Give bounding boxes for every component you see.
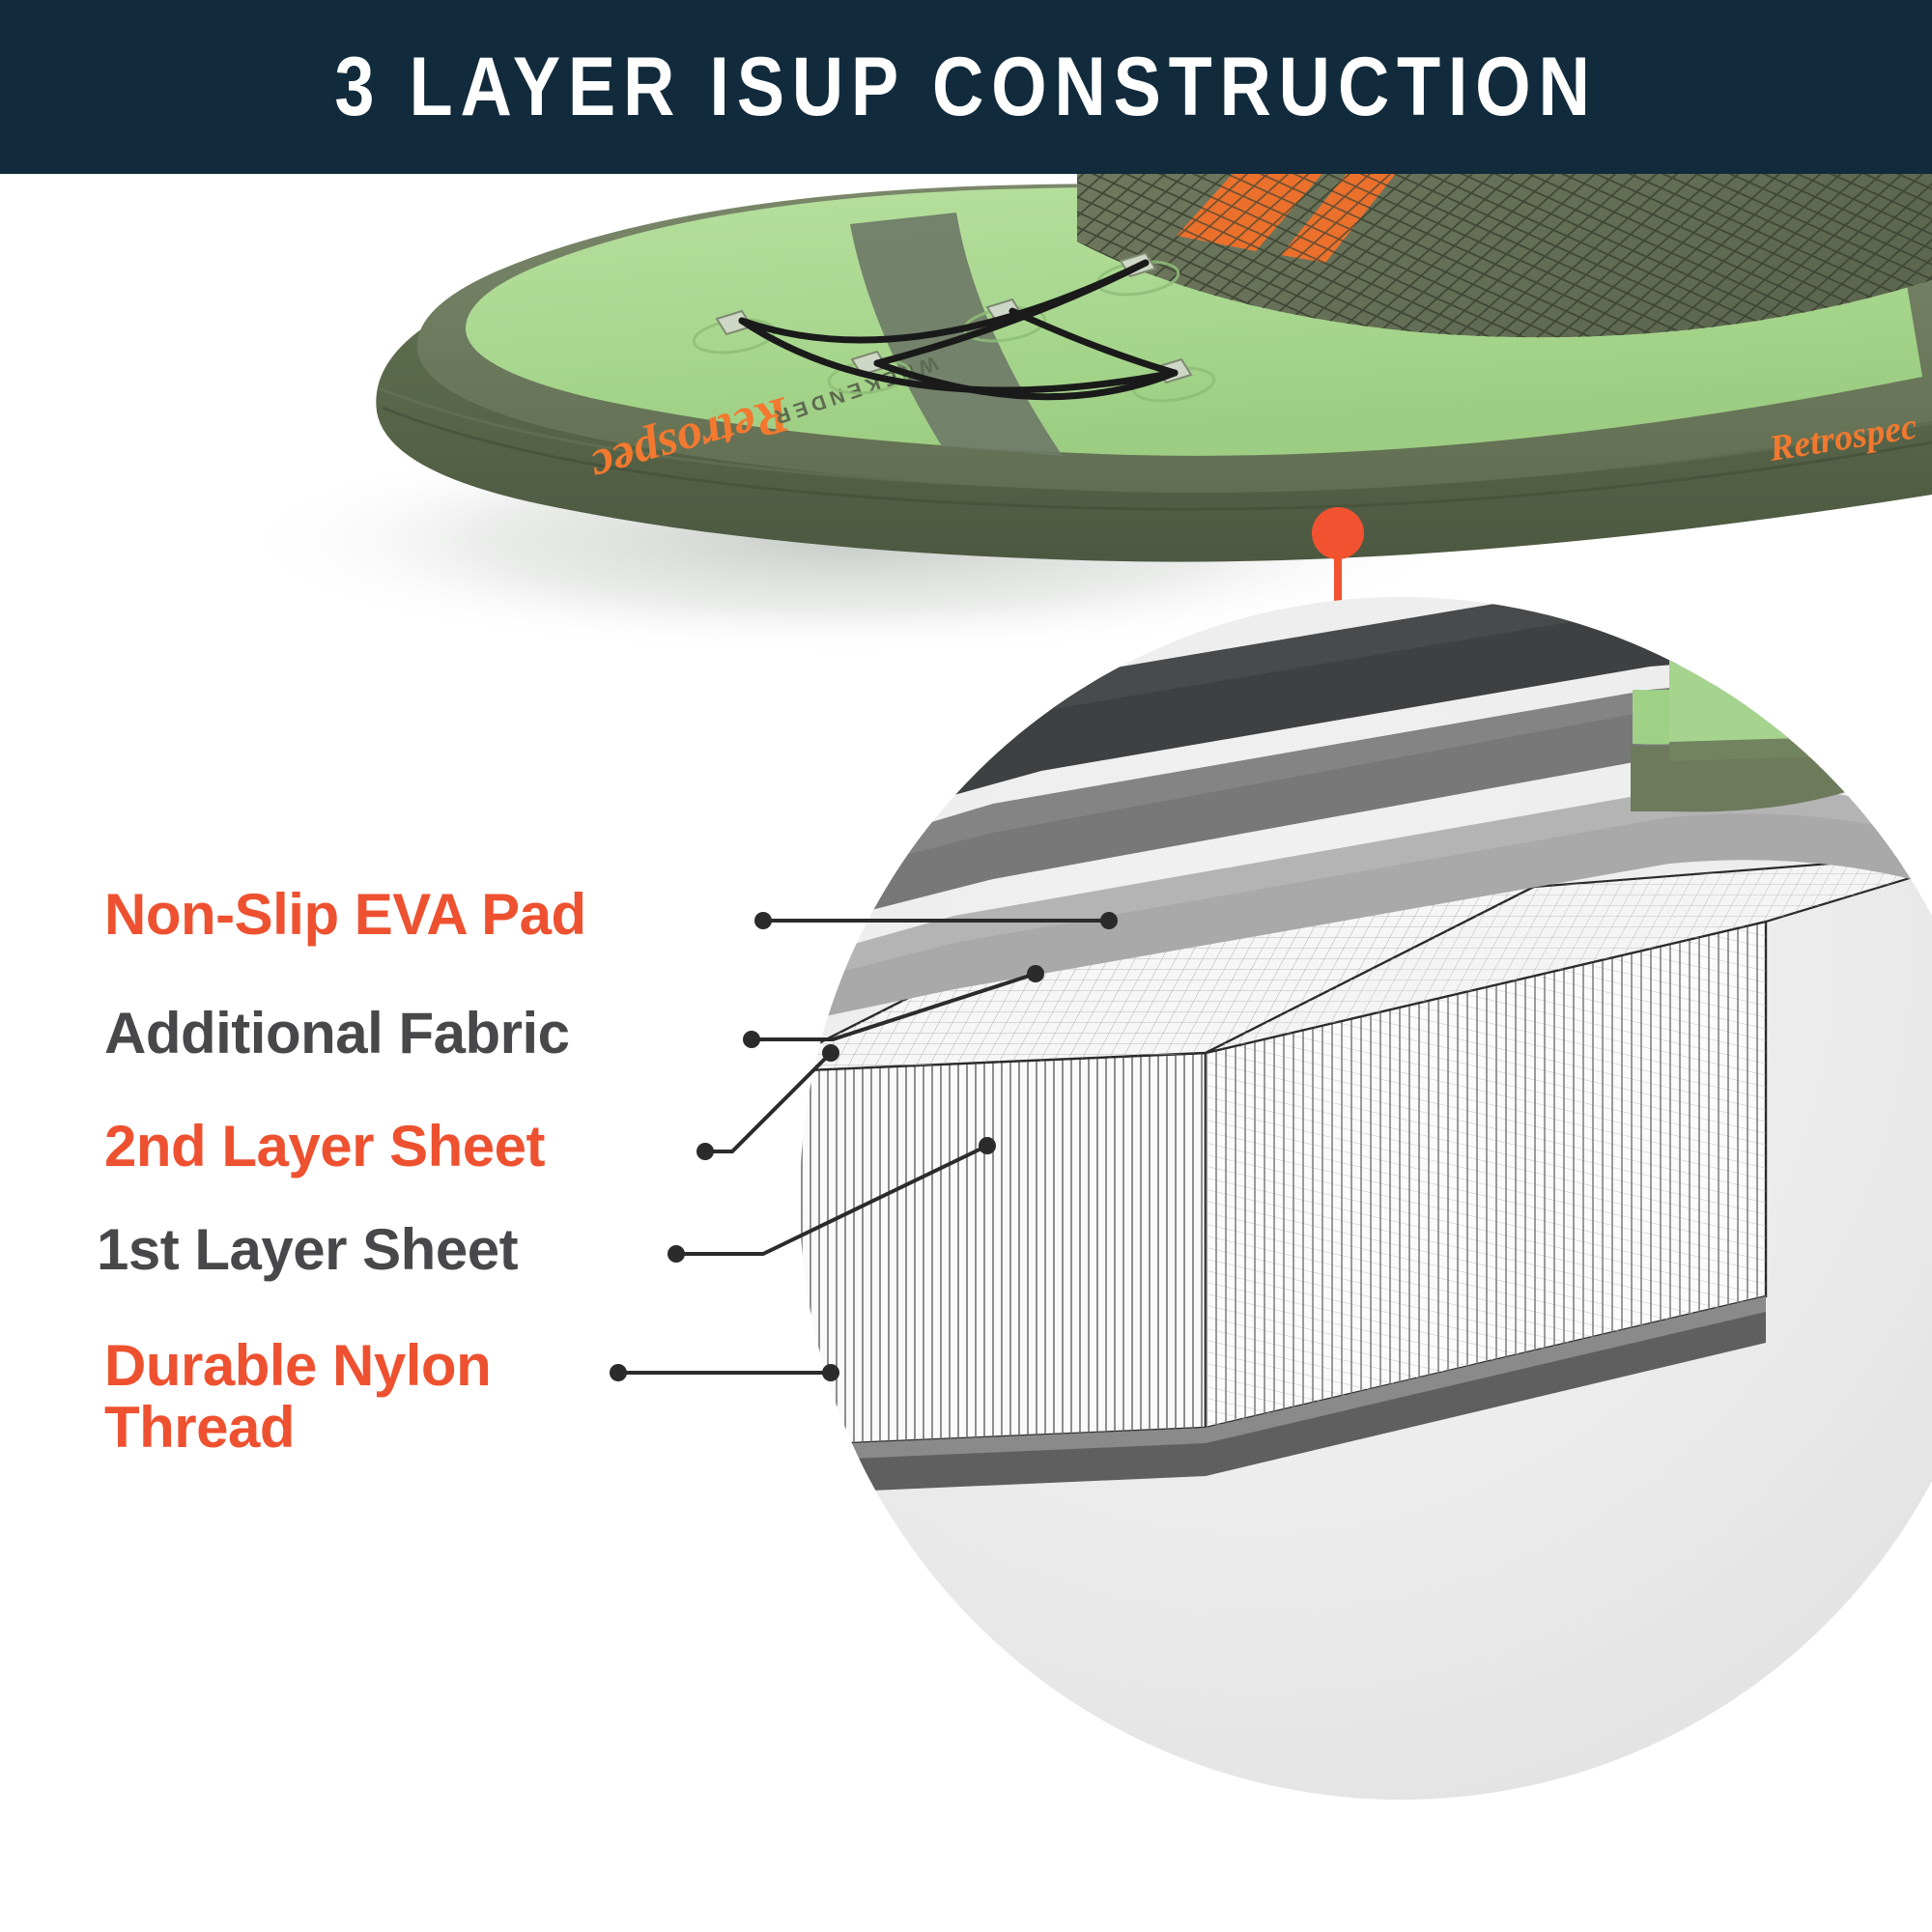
infographic-root: 3 LAYER ISUP CONSTRUCTION <box>0 0 1932 1932</box>
callout-label-2nd-layer-sheet[interactable]: 2nd Layer Sheet <box>104 1116 545 1178</box>
callout-label-eva-pad[interactable]: Non-Slip EVA Pad <box>104 884 586 946</box>
callout-labels: Non-Slip EVA Pad Additional Fabric 2nd L… <box>0 0 1932 1932</box>
callout-label-additional-fabric[interactable]: Additional Fabric <box>104 1003 570 1065</box>
callout-label-1st-layer-sheet[interactable]: 1st Layer Sheet <box>97 1219 518 1281</box>
callout-label-durable-nylon-thread[interactable]: Durable Nylon Thread <box>104 1335 491 1458</box>
